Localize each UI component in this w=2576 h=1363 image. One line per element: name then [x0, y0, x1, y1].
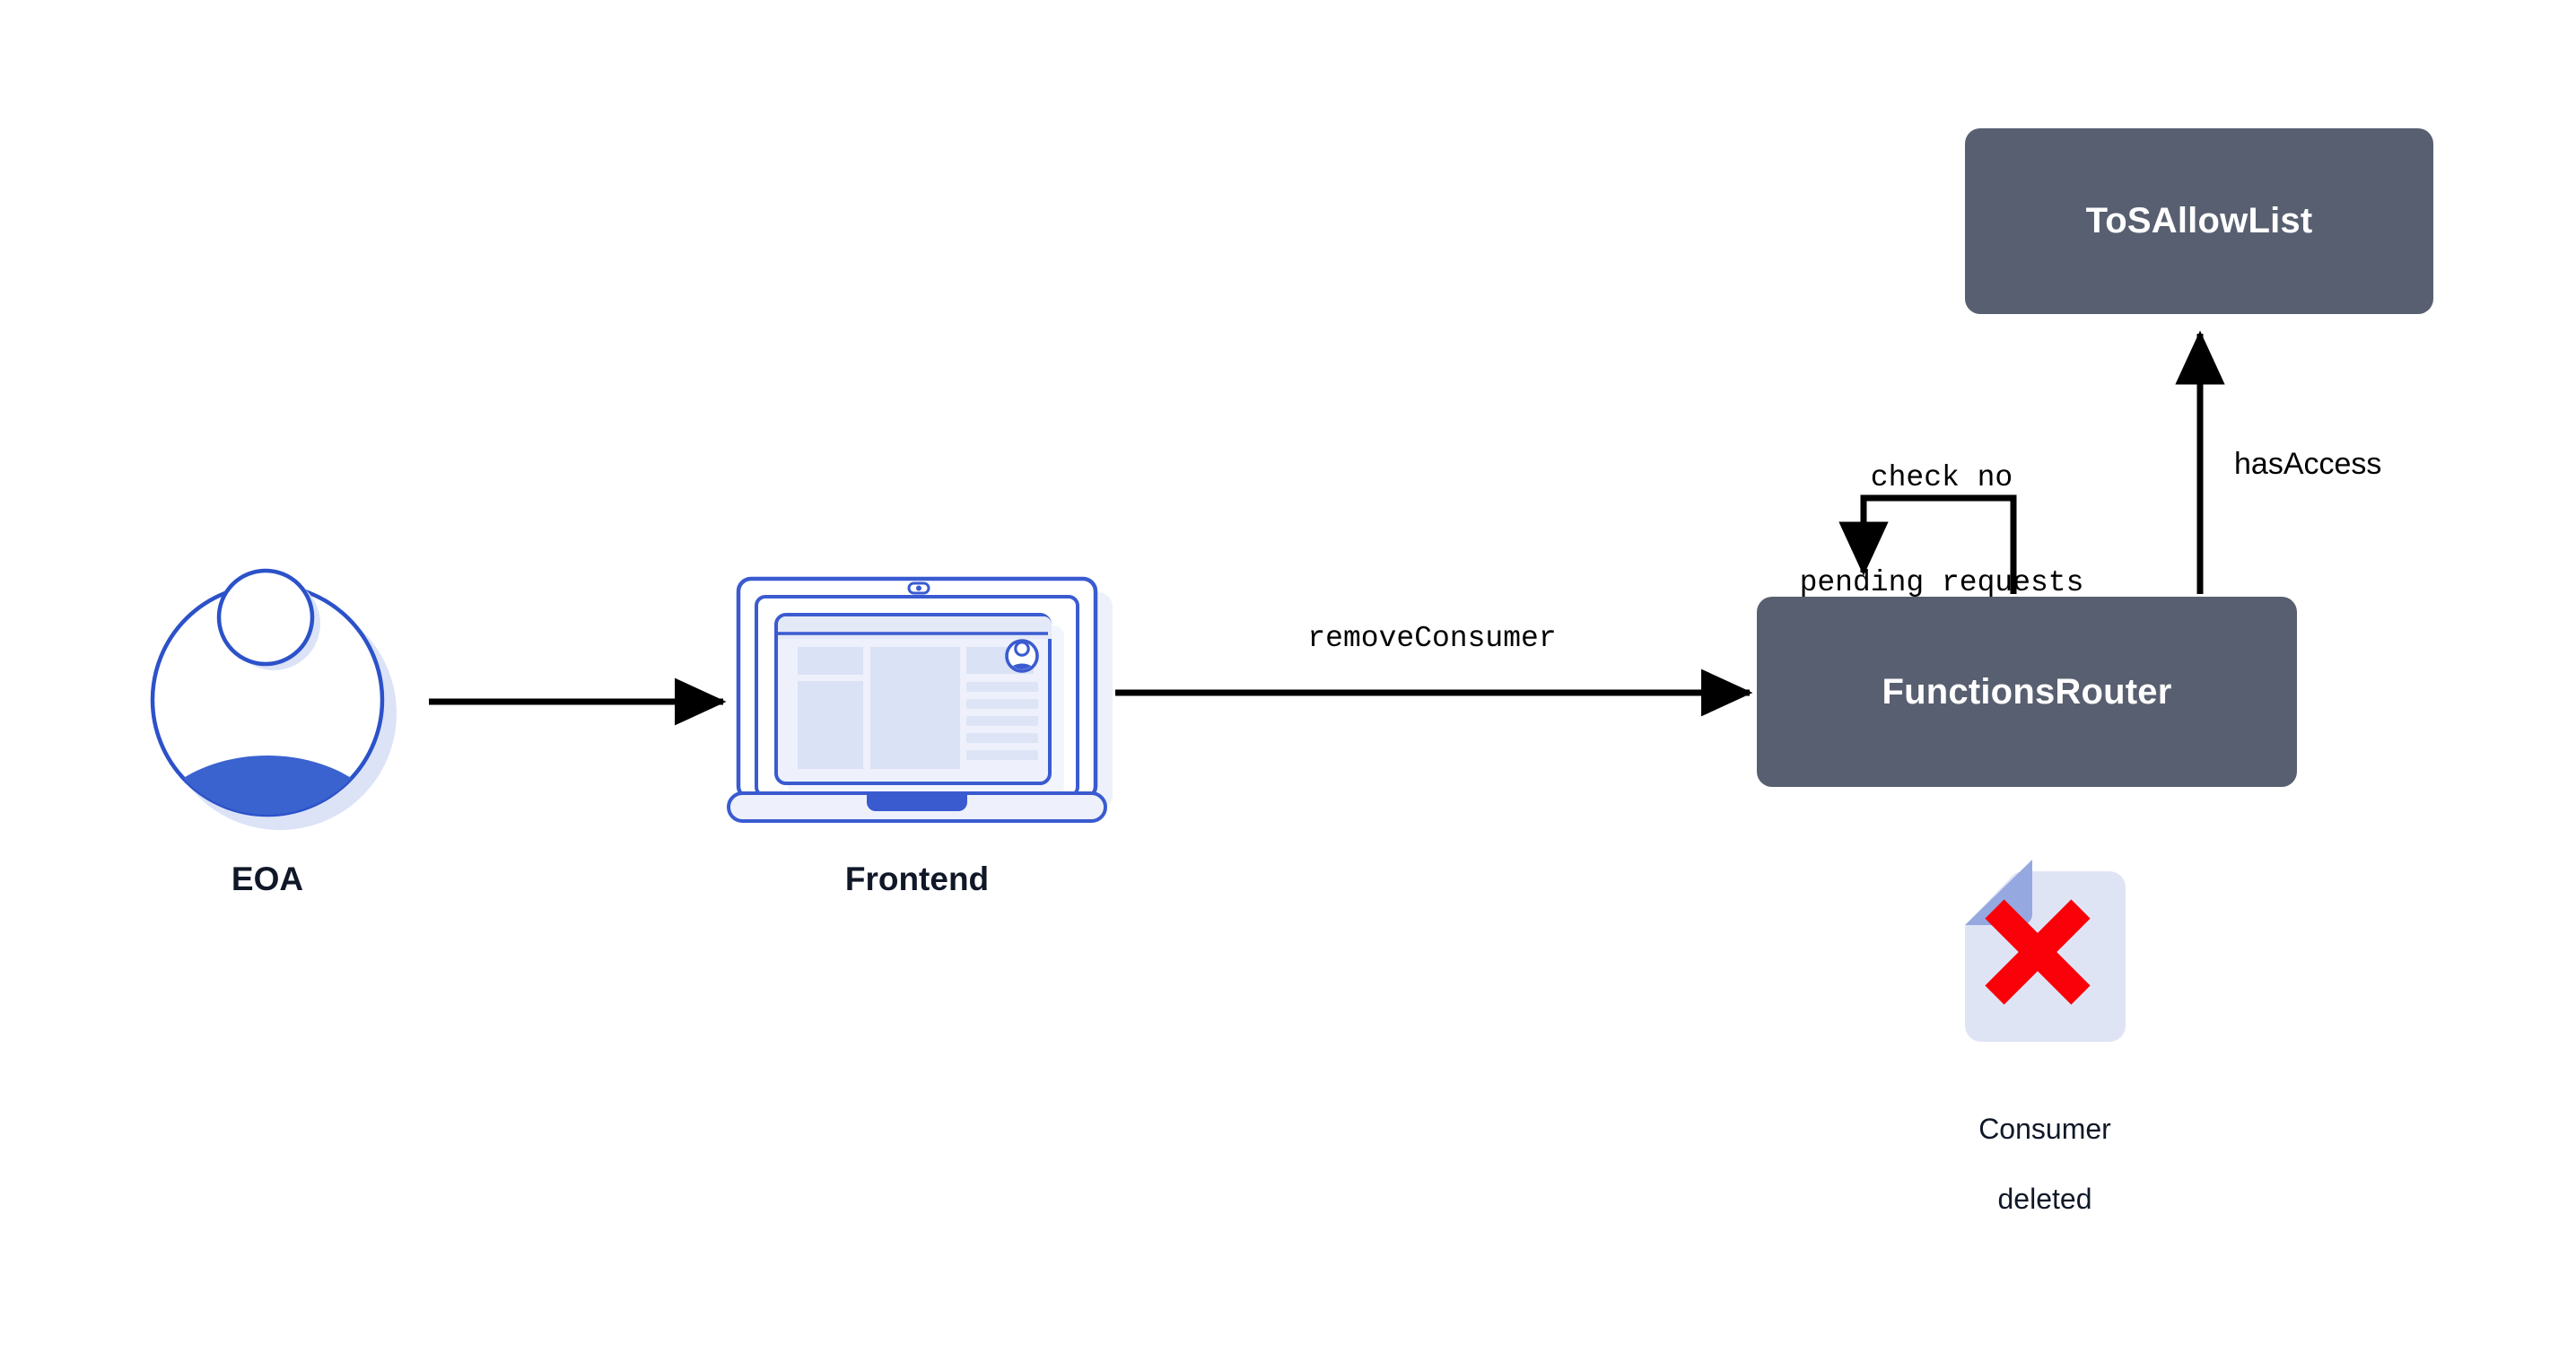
- node-label-tos-allow-list[interactable]: ToSAllowList: [1965, 128, 2433, 314]
- consumer-deleted-line-2: deleted: [1910, 1182, 2179, 1217]
- edge-label-remove-consumer: removeConsumer: [1253, 622, 1611, 657]
- edge-label-has-access: hasAccess: [2234, 446, 2503, 482]
- diagram-canvas: EOA Frontend ToSAllowList FunctionsRoute…: [0, 0, 2576, 1363]
- node-label-eoa: EOA: [133, 859, 402, 899]
- node-label-frontend: Frontend: [782, 859, 1052, 899]
- edge-label-check-no-pending-requests: check no pending requests: [1762, 391, 2121, 671]
- laptop-icon: [729, 579, 1113, 821]
- consumer-deleted-line-1: Consumer: [1910, 1112, 2179, 1147]
- self-loop-label-line-1: check no: [1762, 461, 2121, 496]
- node-label-consumer-deleted: Consumer deleted: [1910, 1077, 2179, 1252]
- document-deleted-icon: [1965, 860, 2126, 1042]
- self-loop-label-line-2: pending requests: [1762, 566, 2121, 601]
